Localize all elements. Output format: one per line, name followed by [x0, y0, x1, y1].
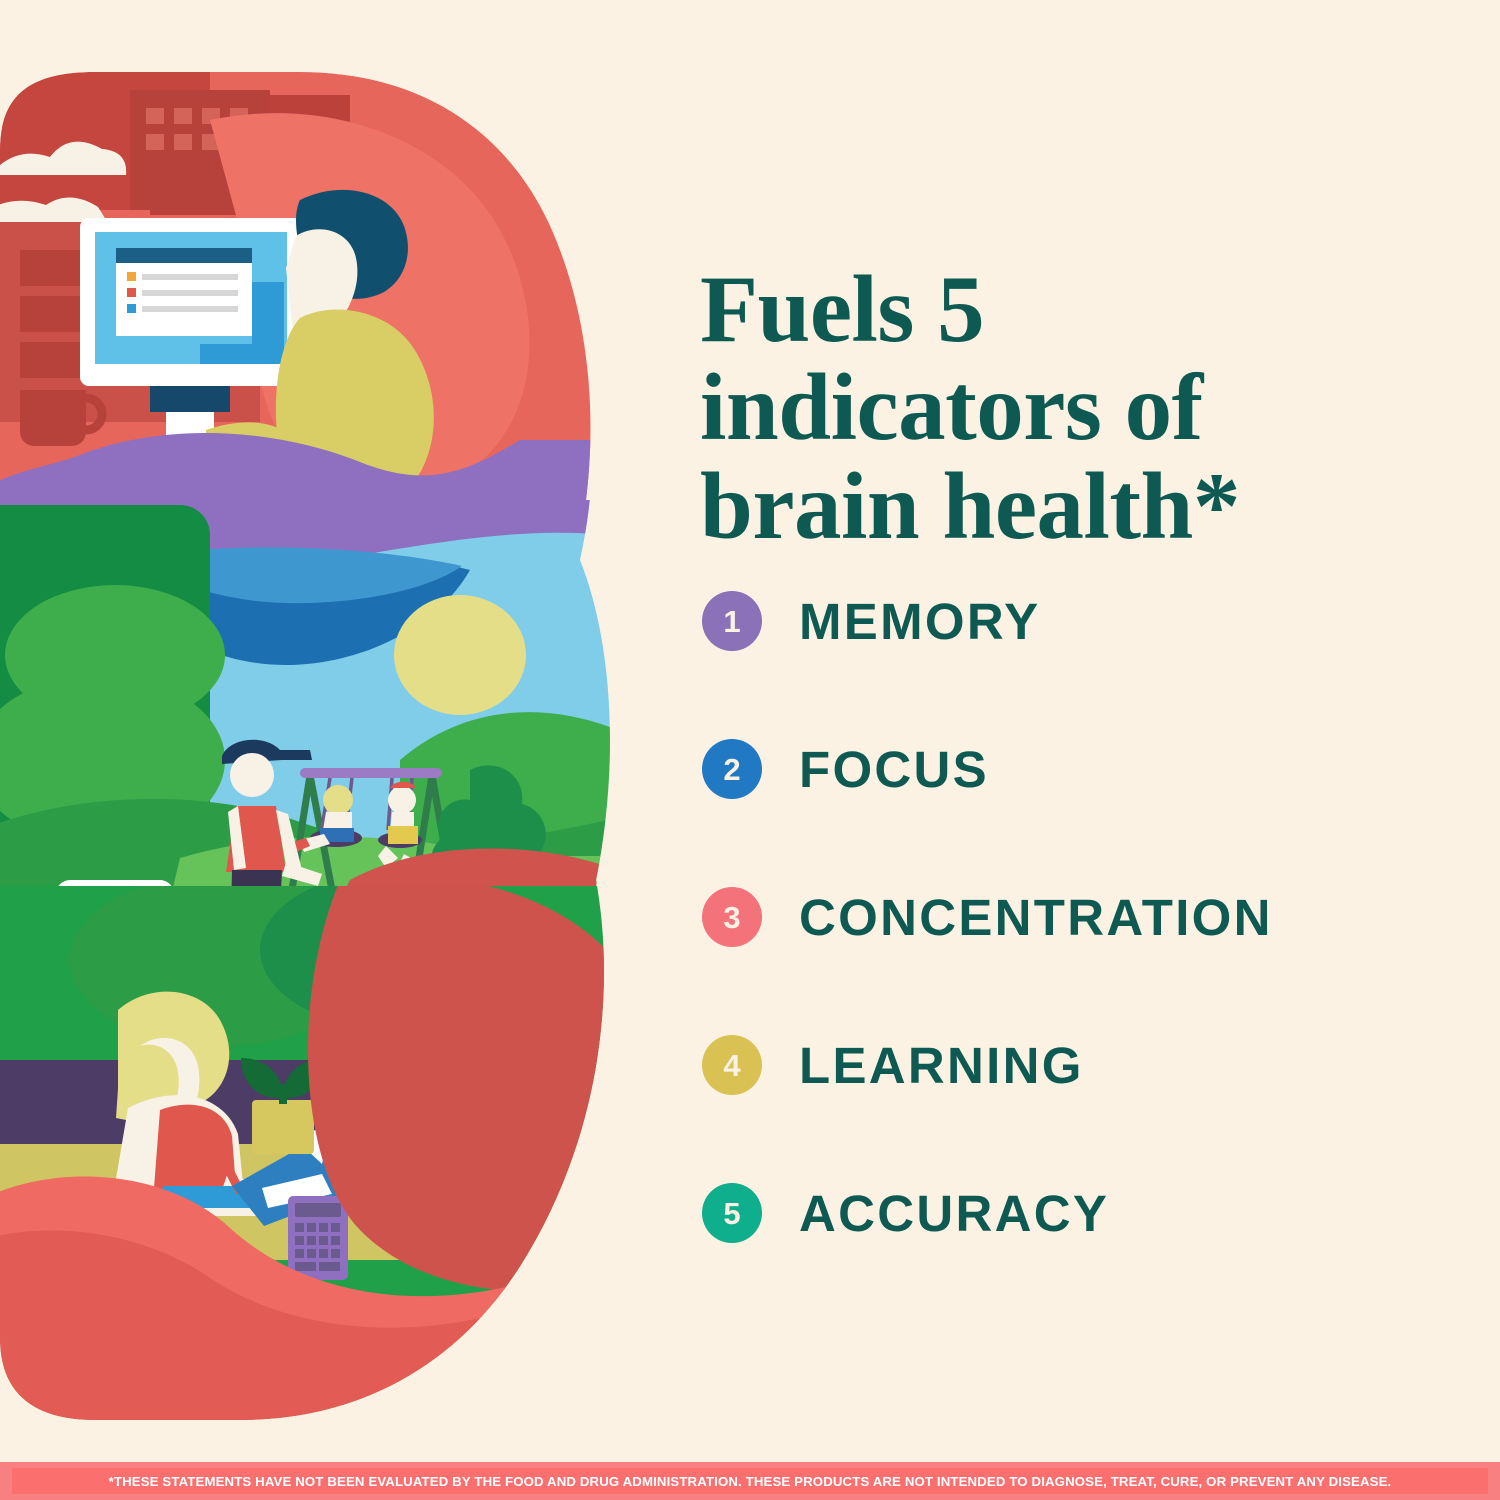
indicator-list: 1 MEMORY 2 FOCUS 3 CONCENTRATION 4 LEARN… — [702, 584, 1492, 1250]
indicator-label-2: FOCUS — [799, 740, 989, 799]
indicator-item-memory: 1 MEMORY — [702, 584, 1492, 658]
disclaimer-inner-band: *THESE STATEMENTS HAVE NOT BEEN EVALUATE… — [12, 1468, 1488, 1494]
indicator-number-badge-5: 5 — [702, 1183, 762, 1243]
disclaimer-text: *THESE STATEMENTS HAVE NOT BEEN EVALUATE… — [109, 1474, 1392, 1489]
indicator-item-learning: 4 LEARNING — [702, 1028, 1492, 1102]
infographic-canvas: Fuels 5 indicators of brain health* 1 ME… — [0, 0, 1500, 1500]
indicator-number-badge-2: 2 — [702, 739, 762, 799]
indicator-label-3: CONCENTRATION — [799, 888, 1273, 947]
headline-line-2: indicators of — [700, 354, 1203, 460]
disclaimer-bar: *THESE STATEMENTS HAVE NOT BEEN EVALUATE… — [0, 1462, 1500, 1500]
study-scene — [0, 870, 640, 1440]
indicator-item-concentration: 3 CONCENTRATION — [702, 880, 1492, 954]
indicator-label-5: ACCURACY — [799, 1184, 1109, 1243]
indicator-label-1: MEMORY — [799, 592, 1040, 651]
half-brain-illustration — [0, 0, 640, 1470]
indicator-item-focus: 2 FOCUS — [702, 732, 1492, 806]
indicator-item-accuracy: 5 ACCURACY — [702, 1176, 1492, 1250]
text-column: Fuels 5 indicators of brain health* 1 ME… — [700, 0, 1500, 1462]
headline-line-1: Fuels 5 — [700, 256, 984, 362]
indicator-number-badge-4: 4 — [702, 1035, 762, 1095]
indicator-number-badge-3: 3 — [702, 887, 762, 947]
page-title: Fuels 5 indicators of brain health* — [700, 260, 1420, 556]
headline-line-3: brain health* — [700, 453, 1240, 559]
office-scene — [0, 40, 640, 520]
indicator-label-4: LEARNING — [799, 1036, 1084, 1095]
indicator-number-badge-1: 1 — [702, 591, 762, 651]
